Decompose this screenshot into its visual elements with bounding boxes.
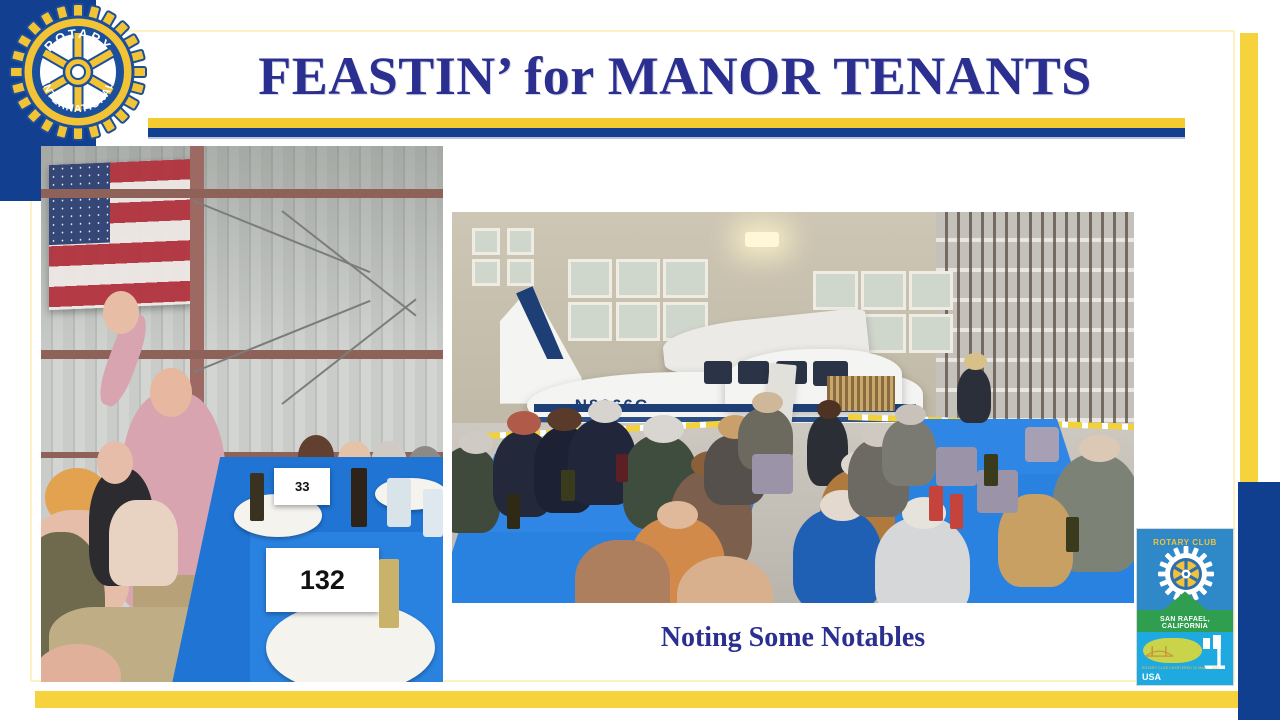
badge-bridge-icon [1145, 644, 1174, 663]
photo-caption: Noting Some Notables [452, 622, 1134, 654]
rotary-club-badge: ROTARY CLUB [1136, 528, 1234, 686]
presentation-slide: ROTARY INTERNATIONAL FEASTIN’ for MANOR … [0, 0, 1280, 720]
title-underline-navy [148, 128, 1185, 137]
badge-country-text: USA [1142, 672, 1161, 682]
badge-subtitle-text: SAN RAFAEL, CALIFORNIA [1137, 616, 1233, 630]
bottom-gold-bar [35, 691, 1263, 708]
photo-hangar-dinner-wave: 33 132 [41, 146, 443, 682]
bottom-right-blue-block [1238, 482, 1280, 720]
table-number-card: 132 [266, 548, 379, 612]
title-underline-thin [148, 137, 1185, 139]
title-underline-gold [148, 118, 1185, 128]
rotary-wheel-icon: ROTARY INTERNATIONAL [2, 2, 154, 145]
table-number-card: 33 [274, 468, 330, 506]
badge-fine-print: ROTARY CLUB CHARTERED 20 May — 1922 [1142, 666, 1220, 671]
slide-title: FEASTIN’ for MANOR TENANTS [160, 45, 1190, 107]
photo-hangar-airplane-banquet: N8366C [452, 212, 1134, 603]
